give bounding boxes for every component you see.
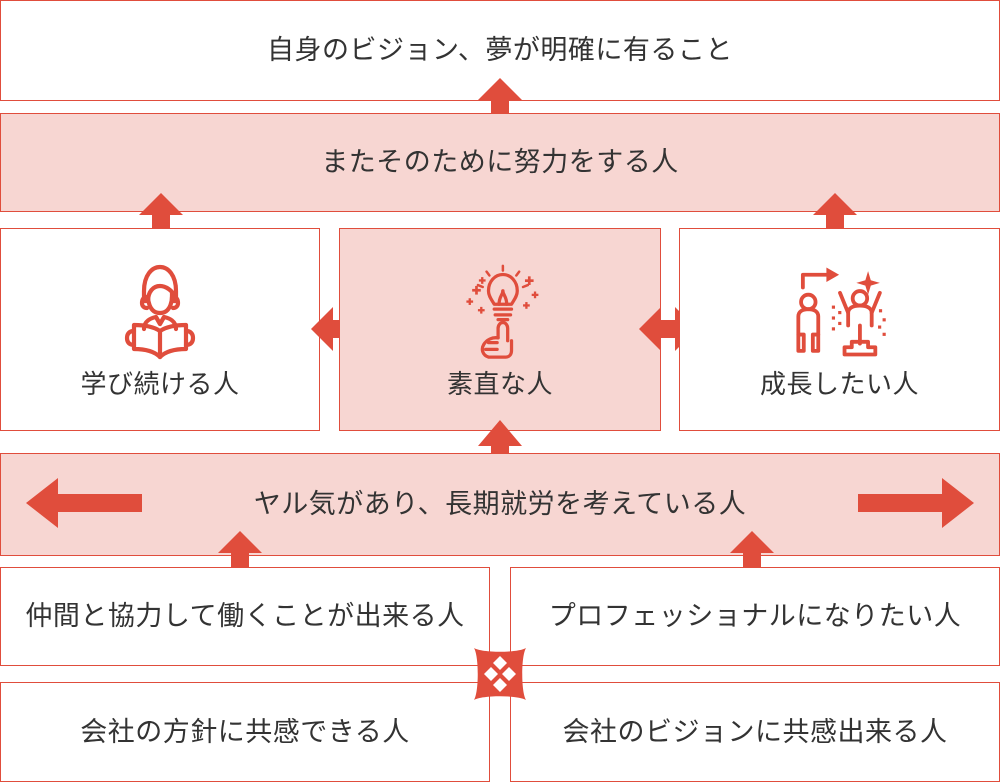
card-growth: 成長したい人 — [679, 228, 1000, 431]
card-learner: 学び続ける人 — [0, 228, 320, 431]
company-vision-label: 会社のビジョンに共感出来る人 — [563, 716, 948, 748]
professional-label: プロフェッショナルになりたい人 — [549, 600, 962, 632]
motivation-box: ヤル気があり、長期就労を考えている人 — [0, 453, 1000, 556]
policy-label: 会社の方針に共感できる人 — [80, 716, 409, 748]
teamwork-box: 仲間と協力して働くことが出来る人 — [0, 567, 490, 666]
effort-label: またそのために努力をする人 — [321, 146, 679, 178]
card-honest-label: 素直な人 — [447, 369, 553, 400]
effort-box: またそのために努力をする人 — [0, 113, 1000, 212]
vision-label: 自身のビジョン、夢が明確に有ること — [267, 34, 733, 66]
card-honest: 素直な人 — [339, 228, 661, 431]
company-vision-box: 会社のビジョンに共感出来る人 — [510, 682, 1000, 782]
professional-box: プロフェッショナルになりたい人 — [510, 567, 1000, 666]
lightbulb-pointing-finger-icon — [452, 259, 548, 363]
person-growth-podium-icon — [792, 259, 888, 363]
policy-box: 会社の方針に共感できる人 — [0, 682, 490, 782]
card-growth-label: 成長したい人 — [760, 369, 919, 400]
teamwork-label: 仲間と協力して働くことが出来る人 — [25, 600, 464, 632]
diagram-canvas: 自身のビジョン、夢が明確に有ること またそのために努力をする人 — [0, 0, 1000, 782]
person-reading-book-icon — [112, 259, 208, 363]
vision-box: 自身のビジョン、夢が明確に有ること — [0, 0, 1000, 101]
four-way-arrow-icon — [472, 646, 528, 702]
motivation-label: ヤル気があり、長期就労を考えている人 — [254, 488, 747, 520]
card-learner-label: 学び続ける人 — [80, 369, 239, 400]
